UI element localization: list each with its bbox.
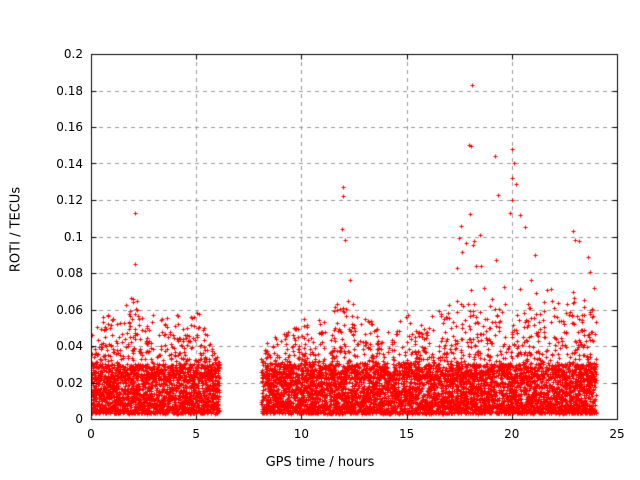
y-tick-label: 0 [23, 412, 83, 426]
y-axis-label: ROTI / TECUs [9, 160, 24, 300]
y-tick-label: 0.2 [23, 47, 83, 61]
y-tick-label: 0.1 [23, 230, 83, 244]
x-tick-label: 20 [504, 427, 519, 441]
x-tick-label: 15 [399, 427, 414, 441]
x-tick-label: 10 [294, 427, 309, 441]
plot-canvas [0, 0, 640, 480]
y-tick-label: 0.16 [23, 120, 83, 134]
x-tick-label: 5 [192, 427, 200, 441]
x-tick-label: 25 [609, 427, 624, 441]
y-tick-label: 0.14 [23, 157, 83, 171]
y-tick-label: 0.18 [23, 84, 83, 98]
x-axis-label: GPS time / hours [0, 455, 640, 470]
y-tick-label: 0.06 [23, 303, 83, 317]
y-tick-label: 0.08 [23, 266, 83, 280]
roti-scatter-plot: Day 043 of 2025, Rate Of TEC Index for r… [0, 0, 640, 480]
y-tick-label: 0.02 [23, 376, 83, 390]
y-tick-label: 0.04 [23, 339, 83, 353]
x-tick-label: 0 [87, 427, 95, 441]
y-tick-label: 0.12 [23, 193, 83, 207]
